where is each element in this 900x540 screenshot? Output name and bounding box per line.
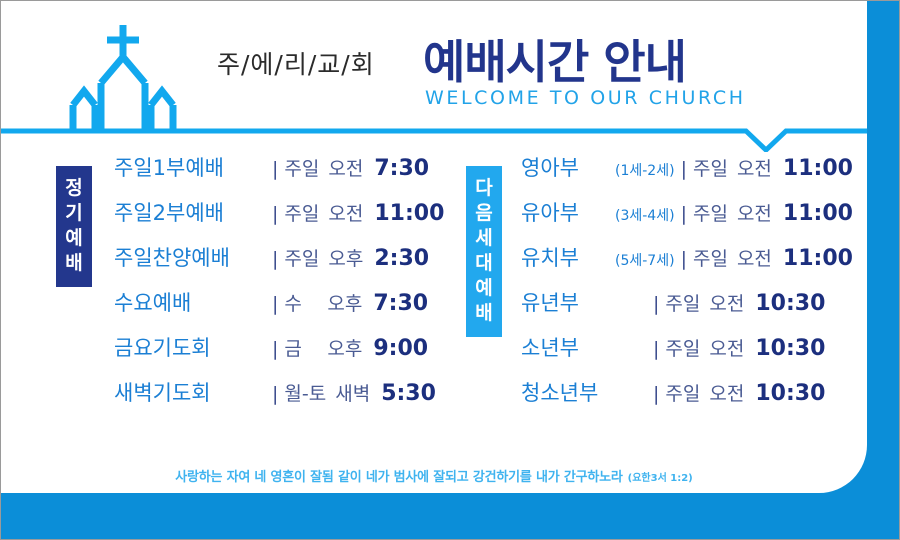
schedule-row: 주일찬양예배 | 주일 오후 2:30 — [114, 242, 444, 287]
schedule-row: 유치부 (5세-7세) | 주일 오전 11:00 — [521, 242, 853, 287]
service-name: 주일찬양예배 — [114, 242, 266, 272]
schedule-body: 정 기 예 배 주일1부예배 | 주일 오전 7:30 주일2부예배 | 주일 … — [1, 152, 867, 452]
section-label-regular: 정 기 예 배 — [56, 166, 92, 287]
section-label-char: 다 — [466, 176, 502, 201]
service-name: 유아부 — [521, 197, 613, 227]
service-name: 주일2부예배 — [114, 197, 266, 227]
service-day: 주일 — [284, 199, 319, 226]
service-name: 소년부 — [521, 332, 647, 362]
service-period: 오전 — [737, 199, 772, 226]
row-separator: | — [681, 158, 687, 180]
schedule-rows-next-gen: 영아부 (1세-2세) | 주일 오전 11:00 유아부 (3세-4세) | … — [521, 152, 853, 422]
row-separator: | — [272, 248, 278, 270]
schedule-rows-regular: 주일1부예배 | 주일 오전 7:30 주일2부예배 | 주일 오전 11:00… — [114, 152, 444, 422]
service-period: 오후 — [328, 244, 363, 271]
service-time: 2:30 — [374, 246, 429, 271]
schedule-row: 유년부 | 주일 오전 10:30 — [521, 287, 853, 332]
service-day: 주일 — [693, 199, 728, 226]
service-time: 11:00 — [783, 201, 853, 226]
service-day: 금 — [284, 334, 318, 361]
schedule-row: 소년부 | 주일 오전 10:30 — [521, 332, 853, 377]
section-label-char: 기 — [56, 201, 92, 226]
service-period: 오전 — [737, 154, 772, 181]
schedule-row: 주일1부예배 | 주일 오전 7:30 — [114, 152, 444, 197]
row-separator: | — [272, 383, 278, 405]
section-label-char: 예 — [56, 226, 92, 251]
service-period: 오후 — [327, 334, 362, 361]
service-name: 청소년부 — [521, 377, 647, 407]
service-period: 새벽 — [335, 379, 370, 406]
schedule-row: 새벽기도회 | 월-토 새벽 5:30 — [114, 377, 444, 422]
header-divider — [1, 126, 867, 152]
schedule-row: 금요기도회 | 금 오후 9:00 — [114, 332, 444, 377]
service-time: 10:30 — [755, 381, 825, 406]
page-title: 예배시간 안내 — [423, 26, 686, 92]
service-time: 5:30 — [381, 381, 436, 406]
church-with-cross-icon — [63, 19, 183, 131]
verse-reference: (요한3서 1:2) — [628, 473, 693, 484]
row-separator: | — [681, 203, 687, 225]
service-period: 오전 — [737, 244, 772, 271]
service-name: 유년부 — [521, 287, 647, 317]
service-day: 주일 — [693, 244, 728, 271]
service-name: 주일1부예배 — [114, 152, 266, 182]
section-label-char: 정 — [56, 176, 92, 201]
service-time: 9:00 — [373, 336, 428, 361]
section-label-char: 배 — [56, 251, 92, 276]
schedule-row: 주일2부예배 | 주일 오전 11:00 — [114, 197, 444, 242]
service-age-range: (3세-4세) — [615, 205, 675, 225]
row-separator: | — [272, 293, 278, 315]
service-time: 11:00 — [374, 201, 444, 226]
service-period: 오전 — [709, 334, 744, 361]
schedule-row: 영아부 (1세-2세) | 주일 오전 11:00 — [521, 152, 853, 197]
service-age-range: (5세-7세) — [615, 250, 675, 270]
section-label-next-gen: 다 음 세 대 예 배 — [466, 166, 502, 337]
service-day: 수 — [284, 289, 318, 316]
service-day: 월-토 — [284, 379, 326, 406]
section-label-char: 배 — [466, 301, 502, 326]
service-day: 주일 — [284, 244, 319, 271]
service-name: 유치부 — [521, 242, 613, 272]
poster-root: 주/에/리/교/회 예배시간 안내 WELCOME TO OUR CHURCH … — [0, 0, 900, 540]
schedule-row: 청소년부 | 주일 오전 10:30 — [521, 377, 853, 422]
service-period: 오전 — [328, 154, 363, 181]
service-day: 주일 — [665, 379, 700, 406]
poster-header: 주/에/리/교/회 예배시간 안내 WELCOME TO OUR CHURCH — [1, 1, 867, 132]
service-name: 새벽기도회 — [114, 377, 266, 407]
service-day: 주일 — [665, 289, 700, 316]
service-day: 주일 — [665, 334, 700, 361]
row-separator: | — [681, 248, 687, 270]
service-time: 11:00 — [783, 246, 853, 271]
verse-text: 사랑하는 자여 네 영혼이 잘됨 같이 네가 범사에 잘되고 강건하기를 내가 … — [175, 470, 622, 485]
bible-verse: 사랑하는 자여 네 영혼이 잘됨 같이 네가 범사에 잘되고 강건하기를 내가 … — [1, 466, 867, 485]
service-name: 수요예배 — [114, 287, 266, 317]
header-text-group: 주/에/리/교/회 예배시간 안내 WELCOME TO OUR CHURCH — [211, 19, 811, 129]
service-time: 10:30 — [755, 291, 825, 316]
service-day: 주일 — [284, 154, 319, 181]
section-label-char: 대 — [466, 251, 502, 276]
section-label-char: 예 — [466, 276, 502, 301]
service-name: 영아부 — [521, 152, 613, 182]
section-label-char: 세 — [466, 226, 502, 251]
row-separator: | — [653, 338, 659, 360]
service-time: 11:00 — [783, 156, 853, 181]
church-name: 주/에/리/교/회 — [217, 45, 375, 81]
service-period: 오전 — [709, 379, 744, 406]
service-day: 주일 — [693, 154, 728, 181]
row-separator: | — [272, 158, 278, 180]
service-period: 오전 — [328, 199, 363, 226]
row-separator: | — [272, 203, 278, 225]
service-name: 금요기도회 — [114, 332, 266, 362]
service-age-range: (1세-2세) — [615, 160, 675, 180]
service-period: 오전 — [709, 289, 744, 316]
service-time: 10:30 — [755, 336, 825, 361]
welcome-subtitle: WELCOME TO OUR CHURCH — [425, 87, 746, 109]
row-separator: | — [272, 338, 278, 360]
section-label-char: 음 — [466, 201, 502, 226]
service-time: 7:30 — [373, 291, 428, 316]
service-time: 7:30 — [374, 156, 429, 181]
schedule-row: 유아부 (3세-4세) | 주일 오전 11:00 — [521, 197, 853, 242]
service-period: 오후 — [327, 289, 362, 316]
row-separator: | — [653, 293, 659, 315]
schedule-row: 수요예배 | 수 오후 7:30 — [114, 287, 444, 332]
row-separator: | — [653, 383, 659, 405]
